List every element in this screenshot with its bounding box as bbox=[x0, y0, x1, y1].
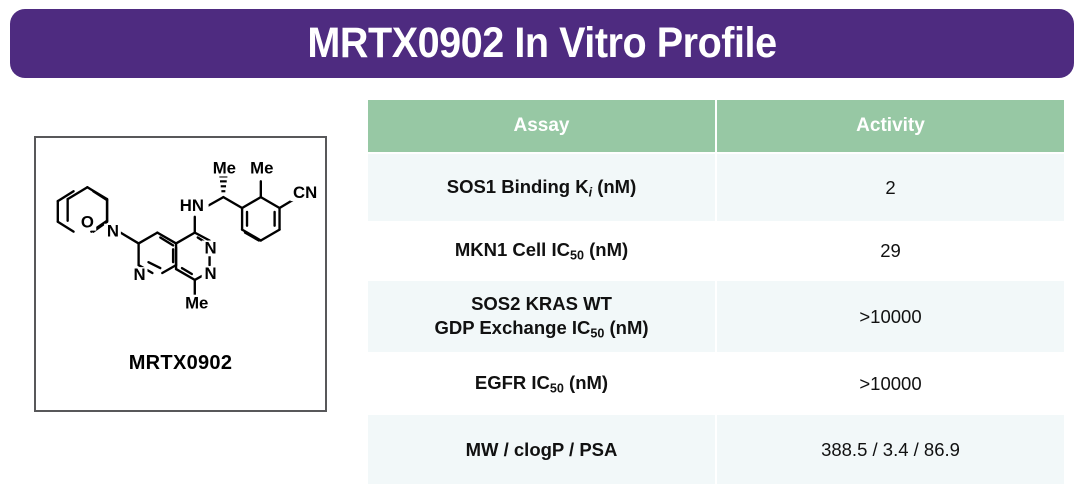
table-row: SOS1 Binding Ki (nM)2 bbox=[368, 154, 1064, 221]
assay-cell: SOS2 KRAS WTGDP Exchange IC50 (nM) bbox=[368, 281, 715, 352]
activity-cell: >10000 bbox=[717, 354, 1064, 413]
assay-cell: MKN1 Cell IC50 (nM) bbox=[368, 223, 715, 279]
activity-cell: 2 bbox=[717, 154, 1064, 221]
assay-cell: EGFR IC50 (nM) bbox=[368, 354, 715, 413]
atom-label-pyridazine-n2: N bbox=[205, 264, 217, 283]
activity-cell: 388.5 / 3.4 / 86.9 bbox=[717, 415, 1064, 484]
activity-cell: 29 bbox=[717, 223, 1064, 279]
table-row: EGFR IC50 (nM)>10000 bbox=[368, 354, 1064, 413]
stereo-hash-wedge bbox=[219, 176, 227, 191]
page-title: MRTX0902 In Vitro Profile bbox=[307, 22, 776, 65]
table-row: SOS2 KRAS WTGDP Exchange IC50 (nM)>10000 bbox=[368, 281, 1064, 352]
atom-label-pyridazine-n1: N bbox=[205, 238, 217, 257]
atom-label-methyl-stereo: Me bbox=[213, 158, 236, 177]
atom-label-methyl-ring: Me bbox=[185, 293, 208, 312]
chemical-structure-panel: O N N HN N N Me Me Me CN MRTX0902 bbox=[34, 136, 327, 412]
table-body: SOS1 Binding Ki (nM)2MKN1 Cell IC50 (nM)… bbox=[368, 154, 1064, 484]
table-row: MW / clogP / PSA388.5 / 3.4 / 86.9 bbox=[368, 415, 1064, 484]
in-vitro-profile-table: Assay Activity SOS1 Binding Ki (nM)2MKN1… bbox=[366, 98, 1066, 486]
atom-label-amine: HN bbox=[180, 196, 204, 215]
atom-label-methyl-aryl: Me bbox=[250, 158, 273, 177]
assay-cell: SOS1 Binding Ki (nM) bbox=[368, 154, 715, 221]
column-header-assay: Assay bbox=[368, 100, 715, 152]
assay-cell: MW / clogP / PSA bbox=[368, 415, 715, 484]
compound-name-label: MRTX0902 bbox=[36, 352, 325, 375]
title-banner: MRTX0902 In Vitro Profile bbox=[10, 9, 1074, 78]
atom-label-morpholine-oxygen: O bbox=[81, 213, 94, 232]
atom-label-pyridine-nitrogen: N bbox=[134, 265, 146, 284]
activity-cell: >10000 bbox=[717, 281, 1064, 352]
atom-label-nitrile: CN bbox=[293, 183, 317, 202]
atom-label-morpholine-nitrogen: N bbox=[107, 222, 119, 241]
table-header-row: Assay Activity bbox=[368, 100, 1064, 152]
column-header-activity: Activity bbox=[717, 100, 1064, 152]
table-row: MKN1 Cell IC50 (nM)29 bbox=[368, 223, 1064, 279]
